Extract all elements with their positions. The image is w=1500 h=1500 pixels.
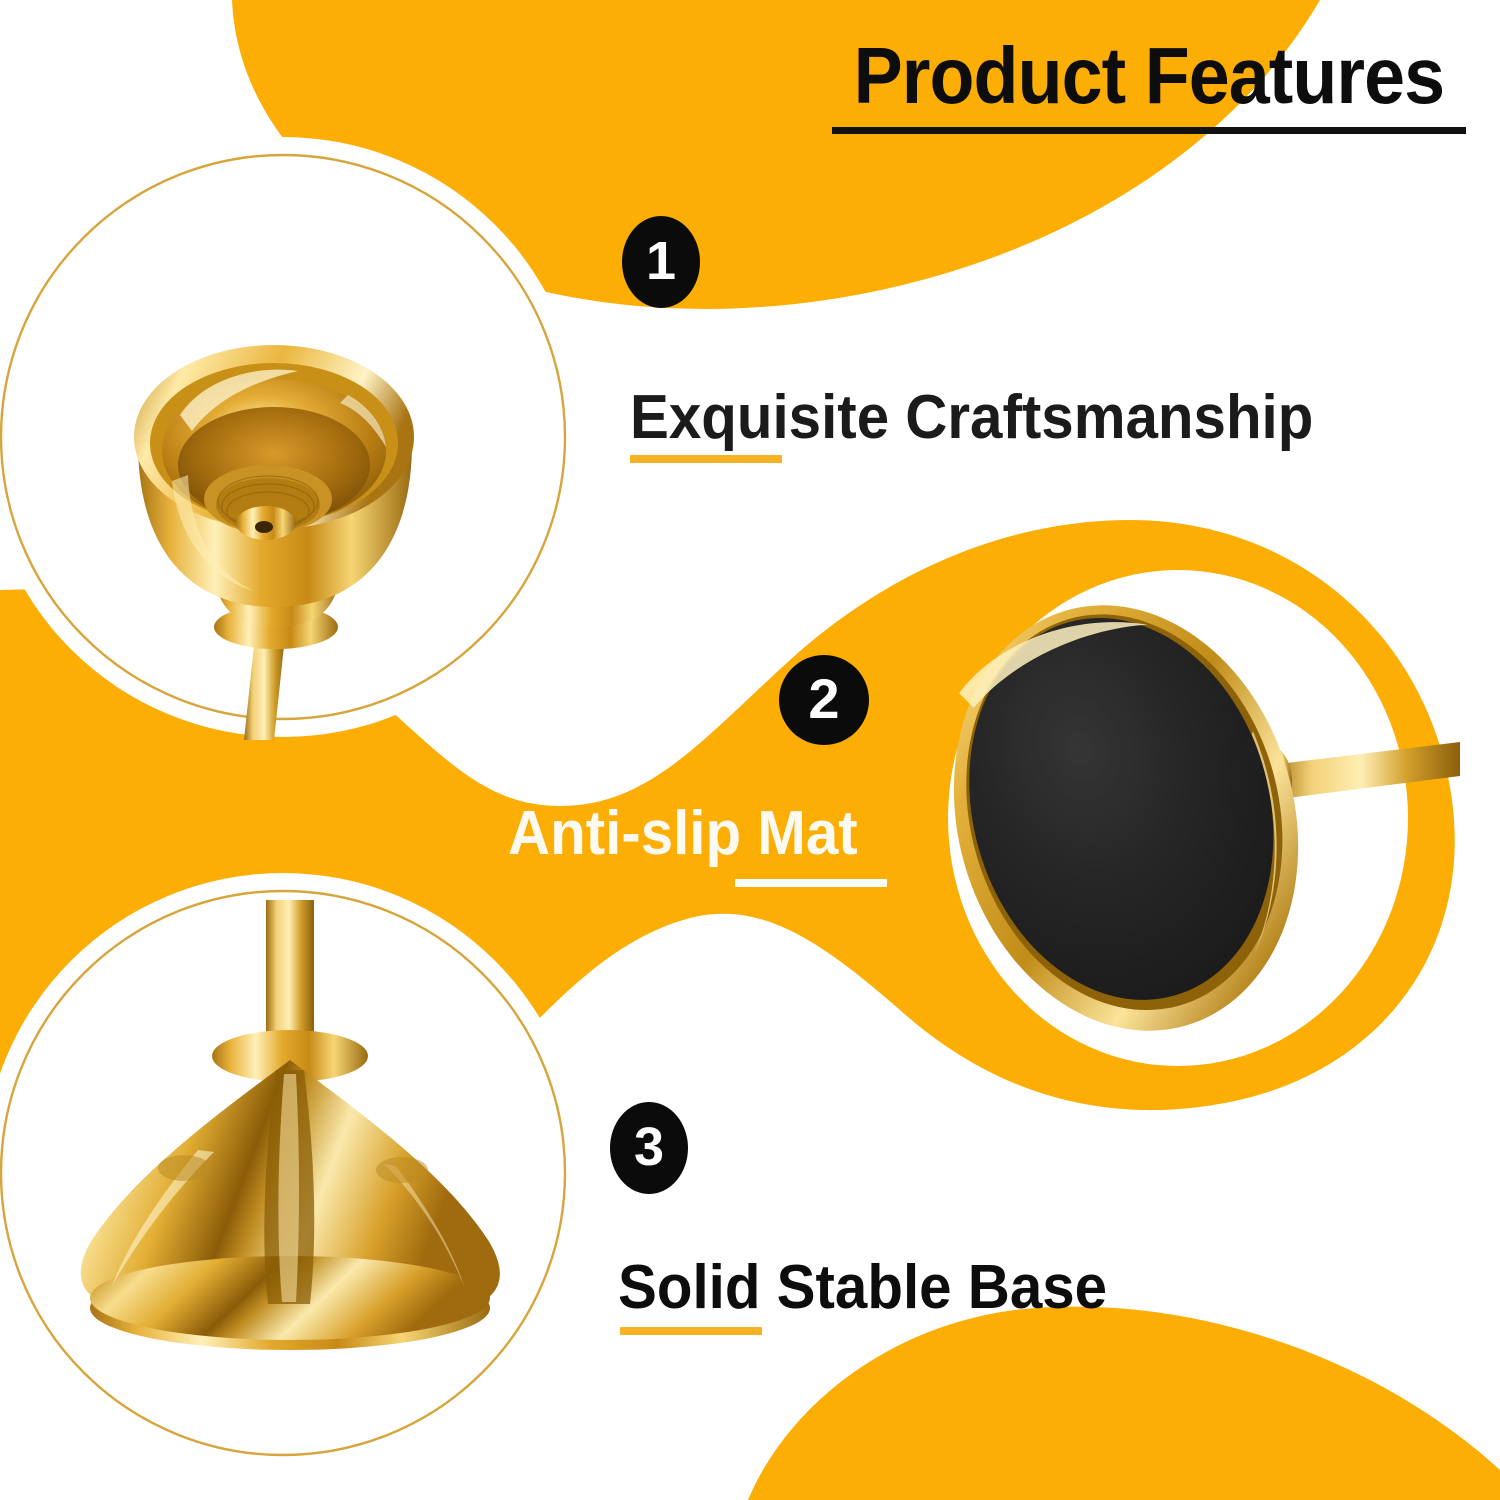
candle-holder-cup-photo: [18, 175, 548, 740]
cup-hole: [255, 521, 273, 533]
anti-slip-felt-pad-photo: [940, 590, 1460, 1060]
bottom-orange-blob: [748, 1307, 1500, 1500]
feature-number-badge-2: 2: [779, 655, 869, 745]
feature-underline-3: [620, 1327, 762, 1335]
page-title: Product Features: [854, 34, 1443, 118]
product-features-infographic: Product Features 1 Exquisite Craftsmansh…: [0, 0, 1500, 1500]
base-dimple-left: [158, 1155, 210, 1181]
feature-number-1: 1: [646, 234, 676, 288]
feature-number-badge-3: 3: [610, 1102, 688, 1194]
feature-number-3: 3: [634, 1120, 664, 1174]
feature-number-badge-1: 1: [622, 216, 700, 308]
feature-number-2: 2: [808, 671, 839, 727]
feature-heading-1: Exquisite Craftsmanship: [630, 382, 1313, 453]
pad-stem: [1270, 742, 1460, 800]
feature-underline-2: [735, 879, 887, 887]
page-title-wrap: Product Features: [828, 34, 1468, 118]
feature-underline-1: [630, 455, 782, 463]
base-stem: [266, 900, 314, 1052]
title-underline: [832, 127, 1466, 134]
feature-heading-3: Solid Stable Base: [618, 1252, 1107, 1323]
base-dimple-right: [376, 1157, 428, 1183]
feature-heading-2: Anti-slip Mat: [508, 798, 858, 869]
gold-stable-base-photo: [8, 900, 568, 1380]
